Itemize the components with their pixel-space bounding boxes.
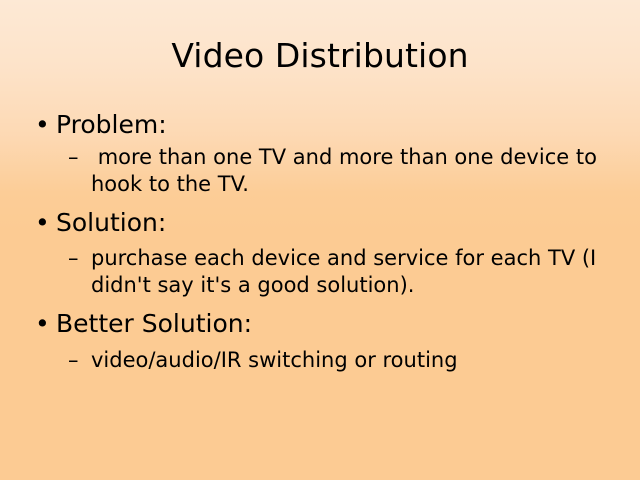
presentation-slide: Video Distribution • Problem: – more tha… bbox=[0, 0, 640, 480]
bullet-dash-icon: – bbox=[68, 347, 79, 374]
bullet-group-solution: • Solution: – purchase each device and s… bbox=[30, 206, 622, 299]
bullet-group-problem: • Problem: – more than one TV and more t… bbox=[30, 108, 622, 198]
bullet-dot-icon: • bbox=[35, 108, 50, 141]
bullet-dot-icon: • bbox=[35, 206, 50, 239]
bullet-level1-better-solution: • Better Solution: bbox=[30, 307, 622, 340]
bullet-level2-solution-1: – purchase each device and service for e… bbox=[30, 245, 622, 299]
bullet-dot-icon: • bbox=[35, 307, 50, 340]
bullet-level2-better-solution-1: – video/audio/IR switching or routing bbox=[30, 347, 622, 374]
bullet-level1-label: Solution: bbox=[56, 208, 166, 237]
bullet-group-better-solution: • Better Solution: – video/audio/IR swit… bbox=[30, 307, 622, 374]
bullet-level1-solution: • Solution: bbox=[30, 206, 622, 239]
bullet-level2-label: purchase each device and service for eac… bbox=[91, 245, 622, 299]
slide-body: • Problem: – more than one TV and more t… bbox=[30, 108, 622, 378]
slide-title: Video Distribution bbox=[0, 36, 640, 76]
bullet-level1-label: Problem: bbox=[56, 110, 167, 139]
bullet-level2-label: video/audio/IR switching or routing bbox=[91, 347, 622, 374]
bullet-level1-label: Better Solution: bbox=[56, 309, 252, 338]
bullet-level2-problem-1: – more than one TV and more than one dev… bbox=[30, 144, 622, 198]
bullet-dash-icon: – bbox=[68, 144, 79, 171]
bullet-dash-icon: – bbox=[68, 245, 79, 272]
bullet-level1-problem: • Problem: bbox=[30, 108, 622, 141]
bullet-level2-label: more than one TV and more than one devic… bbox=[91, 144, 622, 198]
